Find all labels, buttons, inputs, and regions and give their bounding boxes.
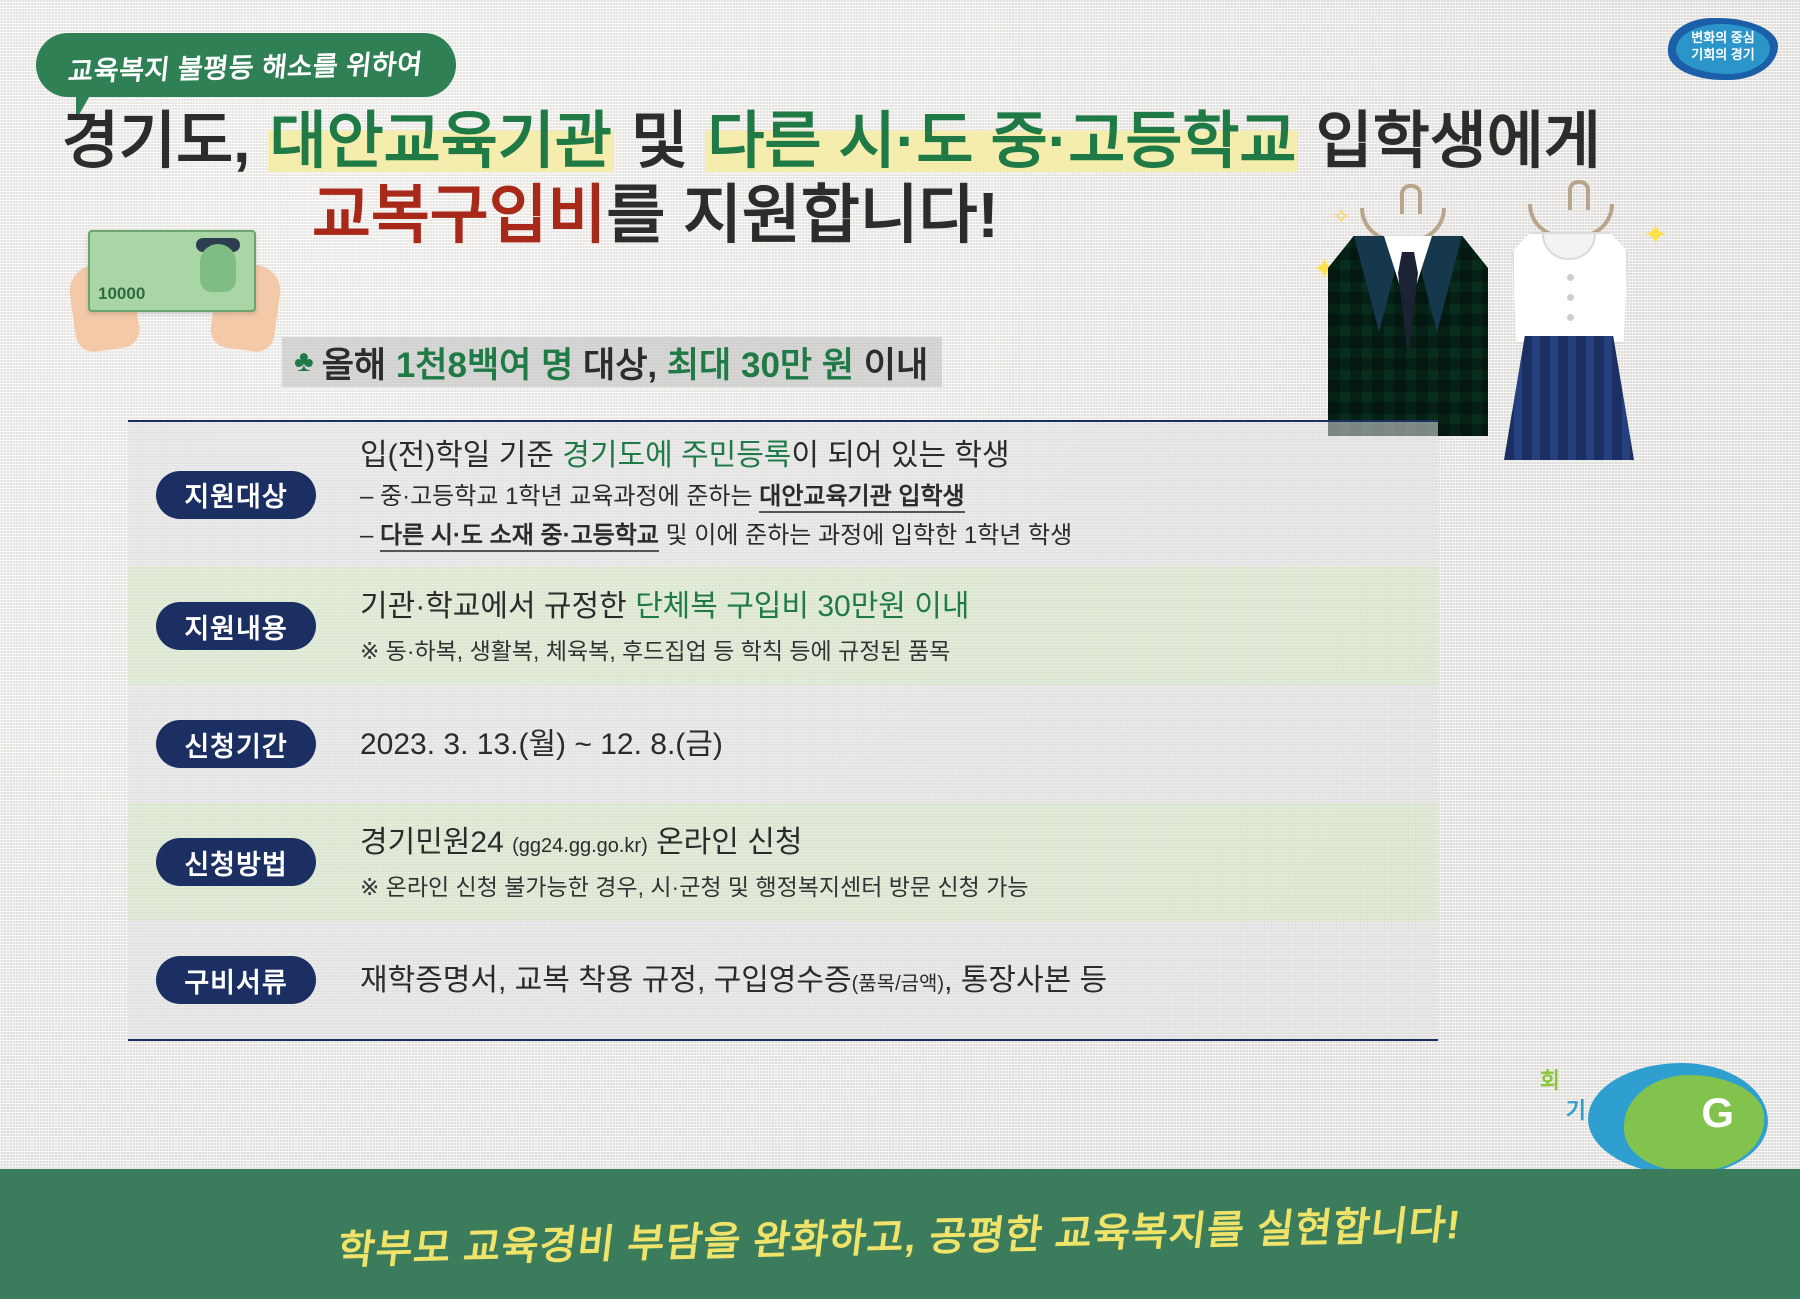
row-main-1: 기관·학교에서 규정한 단체복 구입비 30만원 이내: [360, 587, 1438, 626]
headline-line-1-seg-2: 및: [614, 107, 706, 176]
headline-line-2-seg-0: 교복구입비: [312, 179, 606, 251]
fingers-right: [216, 318, 274, 348]
row-main-3: 경기민원24 (gg24.gg.go.kr) 온라인 신청: [360, 823, 1438, 862]
row-cell-2: 2023. 3. 13.(월) ~ 12. 8.(금): [360, 725, 1438, 764]
row-3-main-seg-0: 경기민원24: [360, 826, 512, 859]
boys-blazer-icon: [1328, 236, 1488, 436]
brand-line-1: 변화의 중심: [1668, 31, 1778, 45]
footer-band: 학부모 교육경비 부담을 완화하고, 공평한 교육복지를 실현합니다!: [0, 1169, 1800, 1299]
banknote-value: 10000: [98, 284, 145, 304]
row-0-sub-0-seg-1: 대안교육기관 입학생: [759, 483, 964, 513]
row-0-sub-1-seg-1: 다른 시·도 소재 중·고등학교: [380, 522, 659, 552]
poster-canvas: 교육복지 불평등 해소를 위하여 변화의 중심 기회의 경기 10000 ✦ ✦…: [0, 0, 1800, 1299]
row-0-main-seg-1: 경기도에 주민등록: [562, 439, 791, 472]
headline-line-1-seg-0: 경기도,: [62, 107, 268, 176]
table-row: 지원내용기관·학교에서 규정한 단체복 구입비 30만원 이내※ 동·하복, 생…: [128, 567, 1438, 685]
headline-line-1-seg-1: 대안교육기관: [268, 107, 614, 176]
row-cell-1: 기관·학교에서 규정한 단체복 구입비 30만원 이내※ 동·하복, 생활복, …: [360, 587, 1438, 666]
blouse-button-1: [1567, 274, 1574, 281]
subtitle-seg-4: 이내: [854, 346, 928, 385]
row-badge-1: 지원내용: [156, 602, 316, 650]
row-3-main-seg-1: (gg24.gg.go.kr): [512, 835, 648, 857]
table-row: 지원대상입(전)학일 기준 경기도에 주민등록이 되어 있는 학생– 중·고등학…: [128, 422, 1438, 567]
blouse-button-2: [1567, 294, 1574, 301]
row-0-sub-0-seg-0: – 중·고등학교 1학년 교육과정에 준하는: [360, 483, 759, 510]
logo-letter-g: G: [1701, 1089, 1734, 1137]
row-note-3: ※ 온라인 신청 불가능한 경우, 시·군청 및 행정복지센터 방문 신청 가능: [360, 868, 1438, 902]
row-cell-3: 경기민원24 (gg24.gg.go.kr) 온라인 신청※ 온라인 신청 불가…: [360, 823, 1438, 902]
row-1-main-seg-1: 단체복 구입비 30만원 이내: [635, 590, 969, 623]
pleated-skirt-icon: [1504, 336, 1634, 460]
fingers-left: [76, 318, 134, 348]
row-4-main-seg-1: (품목/금액): [852, 973, 944, 995]
row-2-main-seg-0: 2023. 3. 13.(월) ~ 12. 8.(금): [360, 728, 723, 761]
row-4-main-seg-2: , 통장사본 등: [944, 964, 1107, 997]
row-cell-0: 입(전)학일 기준 경기도에 주민등록이 되어 있는 학생– 중·고등학교 1학…: [360, 436, 1438, 553]
row-4-main-seg-0: 재학증명서, 교복 착용 규정, 구입영수증: [360, 964, 852, 997]
row-3-main-seg-2: 온라인 신청: [648, 826, 803, 859]
clover-icon: ♣: [294, 347, 314, 377]
table-row: 구비서류재학증명서, 교복 착용 규정, 구입영수증(품목/금액), 통장사본 …: [128, 921, 1438, 1039]
headline-block: 경기도, 대안교육기관 및 다른 시·도 중·고등학교 입학생에게 교복구입비를…: [62, 110, 1742, 249]
headline-line-2-seg-1: 를 지원합니다!: [606, 179, 998, 251]
subtitle-seg-1: 1천8백여 명: [396, 346, 573, 385]
speech-bubble-text: 교육복지 불평등 해소를 위하여: [67, 42, 425, 88]
row-badge-0: 지원대상: [156, 471, 316, 519]
row-note-1: ※ 동·하복, 생활복, 체육복, 후드집업 등 학칙 등에 규정된 품목: [360, 632, 1438, 666]
row-sub-0-1: – 다른 시·도 소재 중·고등학교 및 이에 준하는 과정에 입학한 1학년 …: [360, 519, 1438, 553]
headline-line-1-seg-4: 입학생에게: [1298, 107, 1600, 176]
gyeonggi-brand-logo: 변화의 중심 기회의 경기: [1668, 18, 1778, 80]
info-table: 지원대상입(전)학일 기준 경기도에 주민등록이 되어 있는 학생– 중·고등학…: [128, 420, 1438, 1041]
row-badge-2: 신청기간: [156, 720, 316, 768]
speech-bubble: 교육복지 불평등 해소를 위하여: [36, 33, 456, 97]
headline-line-1: 경기도, 대안교육기관 및 다른 시·도 중·고등학교 입학생에게: [62, 110, 1742, 173]
brand-line-2: 기회의 경기: [1668, 48, 1778, 62]
table-row: 신청방법경기민원24 (gg24.gg.go.kr) 온라인 신청※ 온라인 신…: [128, 803, 1438, 921]
table-row: 신청기간2023. 3. 13.(월) ~ 12. 8.(금): [128, 685, 1438, 803]
row-sub-0-0: – 중·고등학교 1학년 교육과정에 준하는 대안교육기관 입학생: [360, 480, 1438, 514]
gyeonggi-g-logo: 회 기 G: [1548, 1051, 1778, 1181]
row-0-sub-1-seg-0: –: [360, 522, 380, 549]
headline-line-1-seg-3: 다른 시·도 중·고등학교: [705, 107, 1298, 176]
subtitle-seg-2: 대상,: [573, 346, 667, 385]
logo-blob-green: [1624, 1075, 1764, 1171]
logo-mark-left: 기: [1566, 1093, 1586, 1125]
row-1-main-seg-0: 기관·학교에서 규정한: [360, 590, 635, 623]
subtitle-seg-0: 올해: [322, 346, 396, 385]
row-main-2: 2023. 3. 13.(월) ~ 12. 8.(금): [360, 725, 1438, 764]
row-cell-4: 재학증명서, 교복 착용 규정, 구입영수증(품목/금액), 통장사본 등: [360, 961, 1438, 1000]
row-badge-3: 신청방법: [156, 838, 316, 886]
row-main-0: 입(전)학일 기준 경기도에 주민등록이 되어 있는 학생: [360, 436, 1438, 475]
girls-uniform-icon: [1498, 232, 1640, 462]
subtitle-bar: ♣ 올해 1천8백여 명 대상, 최대 30만 원 이내: [282, 337, 942, 387]
blouse-button-3: [1567, 314, 1574, 321]
row-0-main-seg-0: 입(전)학일 기준: [360, 439, 562, 472]
headline-line-2: 교복구입비를 지원합니다!: [62, 183, 1742, 248]
row-main-4: 재학증명서, 교복 착용 규정, 구입영수증(품목/금액), 통장사본 등: [360, 961, 1438, 1000]
subtitle-seg-3: 최대 30만 원: [667, 346, 854, 385]
row-badge-4: 구비서류: [156, 956, 316, 1004]
subtitle-text: 올해 1천8백여 명 대상, 최대 30만 원 이내: [322, 337, 928, 388]
banknote-figure-face: [200, 244, 236, 292]
footer-slogan: 학부모 교육경비 부담을 완화하고, 공평한 교육복지를 실현합니다!: [335, 1192, 1465, 1275]
row-0-main-seg-2: 이 되어 있는 학생: [791, 439, 1009, 472]
row-0-sub-1-seg-2: 및 이에 준하는 과정에 입학한 1학년 학생: [659, 522, 1072, 549]
logo-mark-top: 회: [1540, 1063, 1560, 1095]
